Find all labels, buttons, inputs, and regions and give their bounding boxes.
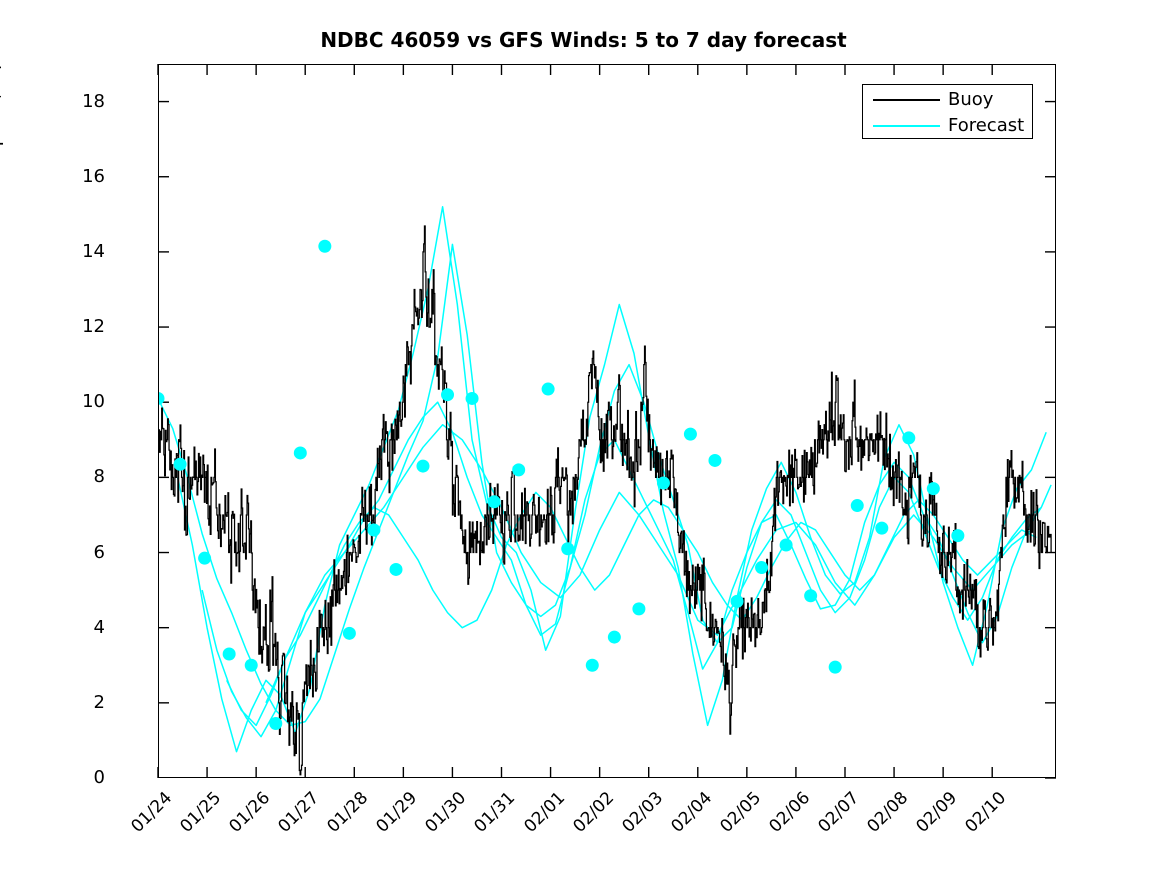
forecast-marker [318, 240, 331, 253]
x-tick-label: 02/07 [805, 788, 863, 846]
forecast-marker [851, 499, 864, 512]
forecast-marker [488, 495, 501, 508]
x-tick-label: 02/05 [707, 788, 765, 846]
x-tick-label: 01/26 [216, 788, 274, 846]
forecast-marker [780, 539, 793, 552]
x-tick-label: 02/04 [658, 788, 716, 846]
legend-item-forecast: Forecast [863, 112, 1032, 139]
x-tick-label: 02/03 [609, 788, 667, 846]
x-tick-label: 01/25 [167, 788, 225, 846]
forecast-marker [561, 542, 574, 555]
x-tick-label: 02/08 [854, 788, 912, 846]
forecast-line [158, 244, 1051, 725]
forecast-marker [608, 631, 621, 644]
plot-area [158, 64, 1056, 778]
x-tick-label: 01/24 [118, 788, 176, 846]
y-axis-label: Wind speed, m/sec [0, 0, 4, 250]
forecast-marker [542, 383, 555, 396]
x-tick-label: 01/29 [364, 788, 422, 846]
legend-line-forecast [873, 125, 940, 127]
figure-canvas: NDBC 46059 vs GFS Winds: 5 to 7 day fore… [0, 0, 1167, 875]
forecast-marker [198, 552, 211, 565]
x-tick-label: 02/06 [756, 788, 814, 846]
y-tick-label: 10 [45, 391, 105, 412]
forecast-series-group [158, 207, 1051, 752]
forecast-marker [927, 482, 940, 495]
legend-label-forecast: Forecast [948, 112, 1024, 139]
forecast-marker [632, 602, 645, 615]
forecast-marker [223, 647, 236, 660]
legend-line-buoy [873, 99, 940, 101]
forecast-marker [174, 458, 187, 471]
forecast-marker [294, 446, 307, 459]
y-tick-label: 14 [45, 241, 105, 262]
y-tick-label: 16 [45, 166, 105, 187]
x-tick-label: 01/28 [314, 788, 372, 846]
legend-label-buoy: Buoy [948, 86, 993, 113]
forecast-marker [152, 392, 165, 405]
x-tick-label: 02/01 [511, 788, 569, 846]
y-tick-label: 18 [45, 91, 105, 112]
y-tick-label: 8 [45, 466, 105, 487]
x-tick-label: 02/10 [952, 788, 1010, 846]
x-tick-label: 02/09 [903, 788, 961, 846]
x-tick-label: 01/30 [413, 788, 471, 846]
legend-item-buoy: Buoy [863, 86, 1032, 113]
y-tick-label: 0 [45, 767, 105, 788]
forecast-marker [657, 477, 670, 490]
forecast-marker [902, 431, 915, 444]
y-tick-label: 6 [45, 542, 105, 563]
y-tick-label: 2 [45, 692, 105, 713]
plot-svg [158, 64, 1056, 778]
forecast-marker [875, 522, 888, 535]
forecast-marker [466, 392, 479, 405]
forecast-marker [951, 529, 964, 542]
forecast-marker [245, 659, 258, 672]
forecast-marker [389, 563, 402, 576]
x-tick-label: 02/02 [560, 788, 618, 846]
forecast-marker [269, 717, 282, 730]
forecast-marker [367, 523, 380, 536]
forecast-marker [586, 659, 599, 672]
y-tick-label: 12 [45, 316, 105, 337]
forecast-marker [829, 661, 842, 674]
forecast-marker [684, 428, 697, 441]
forecast-marker [755, 561, 768, 574]
forecast-marker [512, 463, 525, 476]
page-title: NDBC 46059 vs GFS Winds: 5 to 7 day fore… [0, 28, 1167, 52]
x-tick-label: 01/31 [462, 788, 520, 846]
forecast-line [202, 402, 1041, 736]
forecast-marker [804, 589, 817, 602]
forecast-marker [416, 460, 429, 473]
y-tick-label: 4 [45, 617, 105, 638]
forecast-marker [731, 595, 744, 608]
x-tick-label: 01/27 [265, 788, 323, 846]
forecast-marker [708, 454, 721, 467]
forecast-marker [441, 388, 454, 401]
legend-box: Buoy Forecast [862, 84, 1033, 139]
forecast-marker [343, 627, 356, 640]
